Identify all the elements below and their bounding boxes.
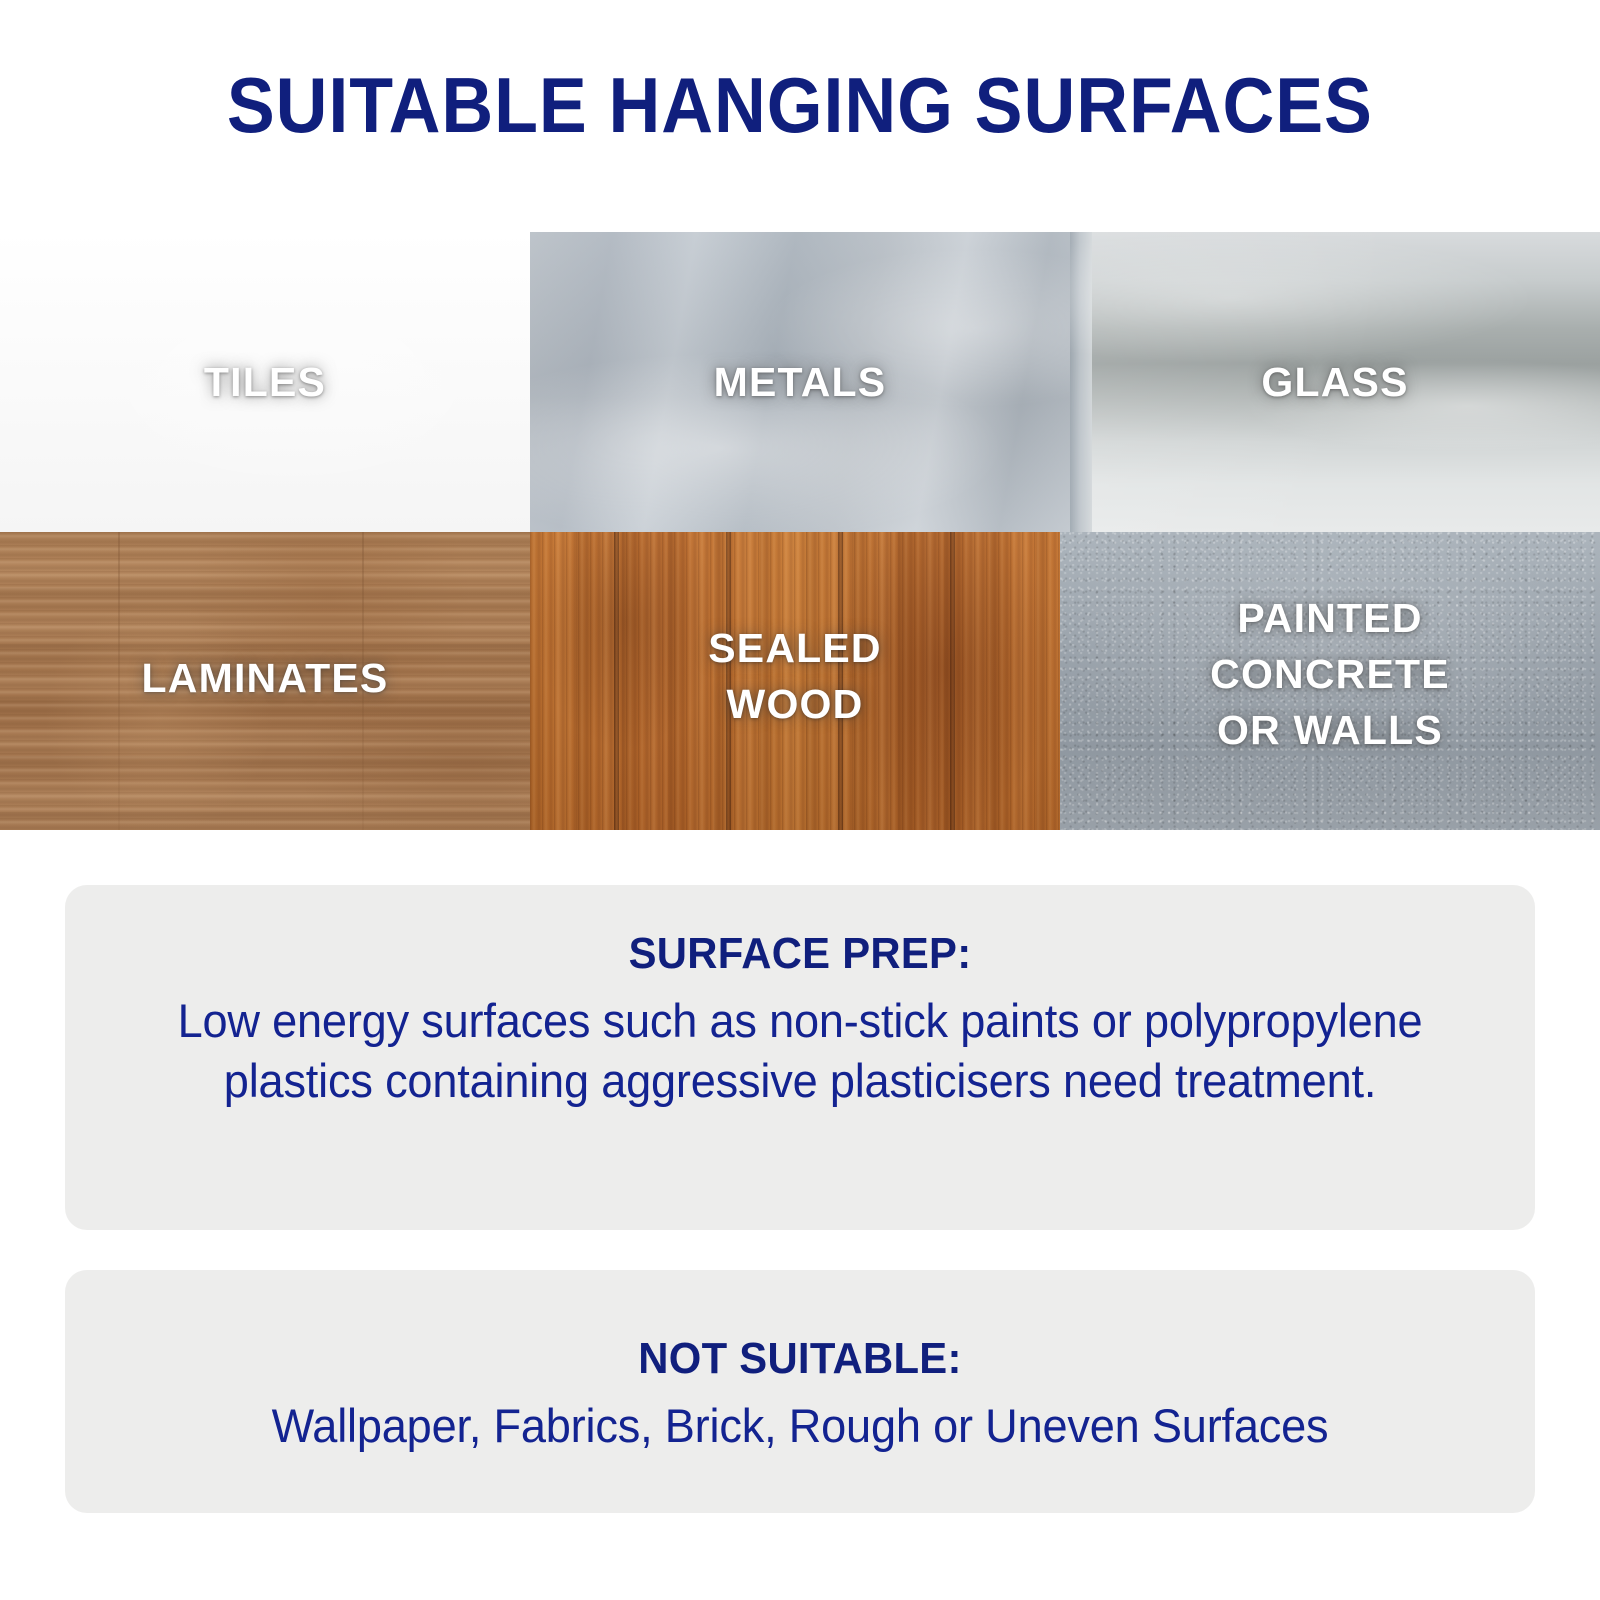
surface-label-laminates: LAMINATES xyxy=(0,654,530,702)
page-title-container: SUITABLE HANGING SURFACES xyxy=(0,62,1600,148)
page-title: SUITABLE HANGING SURFACES xyxy=(227,62,1373,148)
not-suitable-body: Wallpaper, Fabrics, Brick, Rough or Unev… xyxy=(94,1396,1505,1456)
surface-label-concrete-line2: CONCRETE xyxy=(1060,650,1600,698)
surface-image-grid: TILES METALS GLASS LAMINATES xyxy=(0,232,1600,830)
surface-label-sealed-wood: SEALED xyxy=(530,624,1060,672)
surface-panel-sealed-wood: SEALED WOOD xyxy=(530,532,1060,830)
surface-label-concrete-line1: PAINTED xyxy=(1060,594,1600,642)
surface-label-glass: GLASS xyxy=(1070,358,1600,406)
surface-label-tiles: TILES xyxy=(0,358,530,406)
surface-label-metals: METALS xyxy=(530,358,1070,406)
surface-prep-box: SURFACE PREP: Low energy surfaces such a… xyxy=(65,885,1535,1230)
surface-label-sealed-wood-line2: WOOD xyxy=(530,680,1060,728)
not-suitable-heading: NOT SUITABLE: xyxy=(102,1332,1499,1386)
surface-prep-body: Low energy surfaces such as non-stick pa… xyxy=(94,991,1505,1111)
surface-panel-metals: METALS xyxy=(530,232,1070,532)
surface-panel-tiles: TILES xyxy=(0,232,530,532)
surface-label-concrete-line3: OR WALLS xyxy=(1060,706,1600,754)
surface-panel-glass: GLASS xyxy=(1070,232,1600,532)
surface-panel-laminates: LAMINATES xyxy=(0,532,530,830)
surface-panel-painted-concrete: PAINTED CONCRETE OR WALLS xyxy=(1060,532,1600,830)
not-suitable-box: NOT SUITABLE: Wallpaper, Fabrics, Brick,… xyxy=(65,1270,1535,1513)
surface-prep-heading: SURFACE PREP: xyxy=(102,927,1499,981)
infographic-page: SUITABLE HANGING SURFACES TILES METALS G… xyxy=(0,0,1600,1600)
